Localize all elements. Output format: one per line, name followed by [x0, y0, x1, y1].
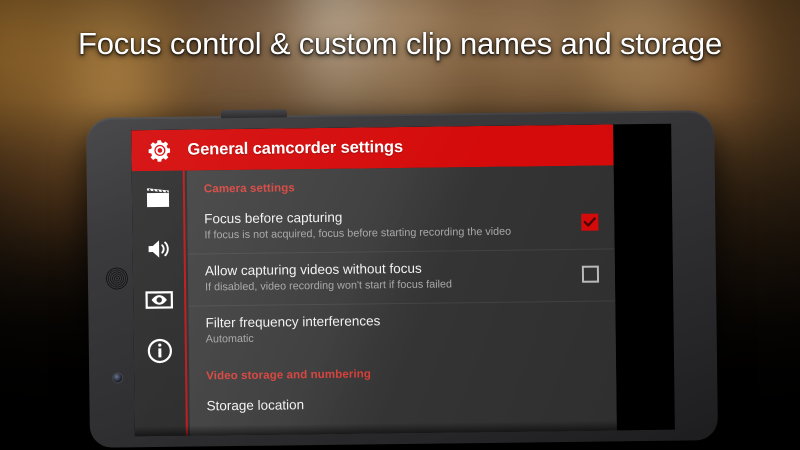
row-subtitle: If focus is not acquired, focus before s… [204, 224, 571, 243]
camcorder-settings-app: General camcorder settings [131, 124, 617, 436]
table-row[interactable]: Filter frequency interferences Automatic [188, 300, 616, 357]
table-row[interactable]: Focus before capturing If focus is not a… [187, 197, 615, 253]
phone-top-nub [221, 109, 287, 118]
settings-list[interactable]: Camera settings Focus before capturing I… [187, 165, 617, 435]
sidebar-item-display[interactable] [142, 287, 176, 317]
speaker-icon [145, 236, 171, 265]
front-camera-icon [113, 373, 122, 382]
table-row[interactable]: Storage location [189, 384, 616, 424]
info-circle-icon [146, 337, 172, 368]
sidebar-item-video[interactable] [140, 185, 174, 215]
app-title: General camcorder settings [187, 138, 403, 160]
page-title: Focus control & custom clip names and st… [0, 26, 800, 62]
checkbox-focus-before-capturing[interactable] [581, 214, 598, 231]
sidebar-item-audio[interactable] [141, 236, 175, 266]
sidebar-rail [132, 171, 188, 437]
row-text: Filter frequency interferences Automatic [205, 310, 599, 348]
app-titlebar: General camcorder settings [131, 124, 613, 171]
row-subtitle: If disabled, video recording won't start… [205, 276, 572, 295]
earpiece-speaker-icon [106, 267, 128, 289]
eye-frame-icon [145, 289, 173, 314]
phone-screen: General camcorder settings [131, 124, 675, 437]
section-header-video-storage: Video storage and numbering [189, 352, 616, 389]
phone-device: General camcorder settings [86, 110, 718, 448]
clapperboard-icon [144, 186, 170, 213]
row-title: Storage location [206, 393, 600, 415]
row-text: Storage location [206, 393, 600, 415]
gear-icon[interactable] [131, 137, 187, 165]
row-text: Allow capturing videos without focus If … [205, 258, 572, 295]
section-header-camera: Camera settings [187, 165, 614, 202]
table-row[interactable]: Allow capturing videos without focus If … [188, 248, 616, 305]
sidebar-item-about[interactable] [142, 338, 176, 368]
screenshot-stage: Focus control & custom clip names and st… [0, 0, 800, 450]
checkbox-allow-capturing-without-focus[interactable] [582, 266, 599, 283]
row-text: Focus before capturing If focus is not a… [204, 206, 571, 243]
